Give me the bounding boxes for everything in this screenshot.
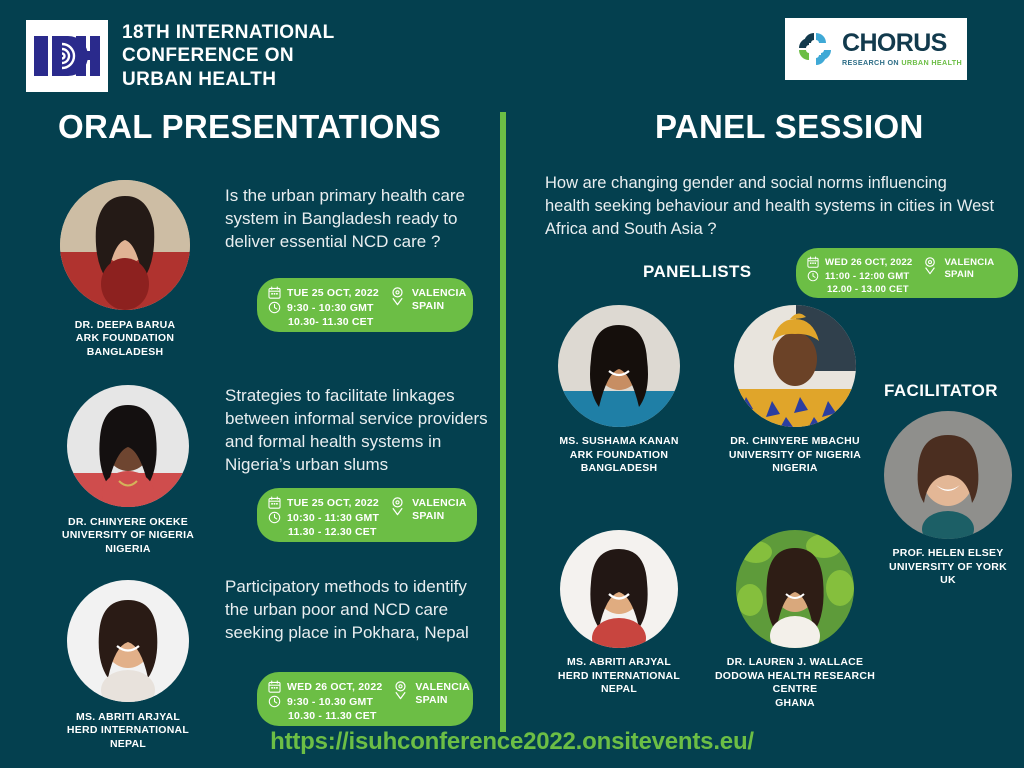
- badge-date-time-group: WED 26 OCT, 2022 11:00 - 12:00 GMT 12.00…: [807, 256, 912, 295]
- badge-time-cet: 11.30 - 12.30 CET: [268, 526, 379, 538]
- badge-date-row: WED 26 OCT, 2022: [807, 256, 912, 268]
- badge-country: SPAIN: [944, 269, 994, 281]
- panel-session-description: How are changing gender and social norms…: [545, 172, 995, 240]
- badge-location: VALENCIA SPAIN: [412, 497, 467, 523]
- badge-time-gmt: 9:30 - 10.30 GMT: [287, 696, 373, 708]
- chorus-wordmark: CHORUS: [842, 31, 962, 56]
- panellist-country: NEPAL: [524, 683, 714, 697]
- panellist-name: DR. CHINYERE MBACHU: [700, 435, 890, 449]
- badge-time-row: 10:30 - 11:30 GMT: [268, 511, 379, 524]
- badge-location-group: VALENCIA SPAIN: [389, 286, 467, 313]
- badge-date: WED 26 OCT, 2022: [287, 681, 382, 693]
- avatar: [736, 530, 854, 648]
- badge-time-cet: 12.00 - 13.00 CET: [807, 284, 912, 295]
- icuh-title-line-2: CONFERENCE ON: [122, 44, 335, 67]
- calendar-icon: [268, 286, 281, 299]
- talk-title: Strategies to facilitate linkages betwee…: [225, 384, 495, 476]
- icuh-title: 18TH INTERNATIONAL CONFERENCE ON URBAN H…: [122, 21, 335, 91]
- talk-title: Is the urban primary health care system …: [225, 184, 495, 253]
- badge-location: VALENCIA SPAIN: [944, 257, 994, 280]
- speaker-org: UNIVERSITY OF NIGERIA: [48, 529, 208, 542]
- badge-location: VALENCIA SPAIN: [415, 681, 470, 707]
- badge-city: VALENCIA: [412, 287, 467, 300]
- avatar: [734, 305, 856, 427]
- badge-time-gmt: 9:30 - 10:30 GMT: [287, 302, 374, 314]
- badge-country: SPAIN: [412, 300, 467, 313]
- speaker-name: MS. ABRITI ARJYAL: [48, 711, 208, 724]
- avatar-photo: [734, 305, 856, 427]
- speaker-name: DR. DEEPA BARUA: [45, 319, 205, 332]
- location-pin-icon: [389, 497, 406, 516]
- speaker-country: BANGLADESH: [45, 346, 205, 359]
- badge-time-row: 9:30 - 10.30 GMT: [268, 695, 382, 708]
- badge-date: TUE 25 OCT, 2022: [287, 287, 379, 299]
- chorus-logo-block: CHORUS RESEARCH ON URBAN HEALTH: [785, 18, 967, 80]
- speaker-name-block: DR. CHINYERE OKEKE UNIVERSITY OF NIGERIA…: [48, 516, 208, 556]
- panel-info-badge: WED 26 OCT, 2022 11:00 - 12:00 GMT 12.00…: [796, 248, 1018, 298]
- avatar-photo: [67, 385, 189, 507]
- chorus-tagline: RESEARCH ON URBAN HEALTH: [842, 58, 962, 67]
- icuh-title-line-1: 18TH INTERNATIONAL: [122, 21, 335, 44]
- avatar-photo: [560, 530, 678, 648]
- badge-city: VALENCIA: [415, 681, 470, 694]
- panellist-org: HERD INTERNATIONAL: [524, 670, 714, 684]
- badge-time-cet: 10.30- 11.30 CET: [268, 316, 379, 328]
- badge-time-gmt: 11:00 - 12:00 GMT: [825, 271, 909, 282]
- panellist-org: DODOWA HEALTH RESEARCH CENTRE: [700, 670, 890, 697]
- panellist-name: MS. ABRITI ARJYAL: [524, 656, 714, 670]
- avatar-photo: [60, 180, 190, 310]
- clock-icon: [807, 270, 819, 282]
- speaker-name-block: DR. DEEPA BARUA ARK FOUNDATION BANGLADES…: [45, 319, 205, 359]
- speaker-card: DR. CHINYERE OKEKE UNIVERSITY OF NIGERIA…: [48, 385, 208, 556]
- talk-title: Participatory methods to identify the ur…: [225, 575, 495, 644]
- avatar: [67, 385, 189, 507]
- session-info-badge: TUE 25 OCT, 2022 9:30 - 10:30 GMT 10.30-…: [257, 278, 473, 332]
- badge-date-row: TUE 25 OCT, 2022: [268, 496, 379, 509]
- badge-location-group: VALENCIA SPAIN: [392, 680, 470, 707]
- chorus-pinwheel-icon: [795, 29, 835, 69]
- panellist-card: MS. SUSHAMA KANAN ARK FOUNDATION BANGLAD…: [524, 305, 714, 476]
- location-pin-icon: [392, 681, 409, 700]
- facilitator-card: PROF. HELEN ELSEY UNIVERSITY OF YORK UK: [878, 411, 1018, 588]
- oral-presentations-heading: ORAL PRESENTATIONS: [58, 108, 441, 146]
- avatar: [60, 180, 190, 310]
- badge-location-group: VALENCIA SPAIN: [922, 256, 994, 280]
- clock-icon: [268, 301, 281, 314]
- avatar: [558, 305, 680, 427]
- badge-time-gmt: 10:30 - 11:30 GMT: [287, 512, 379, 524]
- icuh-logo-icon: [26, 20, 108, 92]
- badge-time-row: 11:00 - 12:00 GMT: [807, 270, 912, 282]
- panellist-name-block: DR. CHINYERE MBACHU UNIVERSITY OF NIGERI…: [700, 435, 890, 476]
- panellist-card: DR. LAUREN J. WALLACE DODOWA HEALTH RESE…: [700, 530, 890, 711]
- badge-country: SPAIN: [412, 510, 467, 523]
- avatar: [884, 411, 1012, 539]
- panellist-name-block: MS. SUSHAMA KANAN ARK FOUNDATION BANGLAD…: [524, 435, 714, 476]
- badge-city: VALENCIA: [412, 497, 467, 510]
- clock-icon: [268, 511, 281, 524]
- facilitator-country: UK: [878, 574, 1018, 588]
- panel-session-heading: PANEL SESSION: [655, 108, 924, 146]
- speaker-card: MS. ABRITI ARJYAL HERD INTERNATIONAL NEP…: [48, 580, 208, 751]
- calendar-icon: [807, 256, 819, 268]
- panellists-heading: PANELLISTS: [643, 262, 752, 282]
- badge-city: VALENCIA: [944, 257, 994, 269]
- badge-time-cet: 10.30 - 11.30 CET: [268, 710, 382, 722]
- panellist-country: NIGERIA: [700, 462, 890, 476]
- panellist-name-block: DR. LAUREN J. WALLACE DODOWA HEALTH RESE…: [700, 656, 890, 711]
- location-pin-icon: [389, 287, 406, 306]
- panellist-name: MS. SUSHAMA KANAN: [524, 435, 714, 449]
- calendar-icon: [268, 496, 281, 509]
- avatar: [560, 530, 678, 648]
- badge-date-time-group: TUE 25 OCT, 2022 9:30 - 10:30 GMT 10.30-…: [268, 286, 379, 328]
- badge-location-group: VALENCIA SPAIN: [389, 496, 467, 523]
- avatar-photo: [884, 411, 1012, 539]
- column-divider: [500, 112, 506, 732]
- panellist-org: UNIVERSITY OF NIGERIA: [700, 449, 890, 463]
- facilitator-name: PROF. HELEN ELSEY: [878, 547, 1018, 561]
- facilitator-name-block: PROF. HELEN ELSEY UNIVERSITY OF YORK UK: [878, 547, 1018, 588]
- location-pin-icon: [922, 257, 938, 275]
- session-info-badge: TUE 25 OCT, 2022 10:30 - 11:30 GMT 11.30…: [257, 488, 477, 542]
- panellist-name: DR. LAUREN J. WALLACE: [700, 656, 890, 670]
- icuh-logo-block: 18TH INTERNATIONAL CONFERENCE ON URBAN H…: [26, 20, 335, 92]
- panellist-card: DR. CHINYERE MBACHU UNIVERSITY OF NIGERI…: [700, 305, 890, 476]
- panellist-name-block: MS. ABRITI ARJYAL HERD INTERNATIONAL NEP…: [524, 656, 714, 697]
- badge-location: VALENCIA SPAIN: [412, 287, 467, 313]
- badge-date: WED 26 OCT, 2022: [825, 257, 912, 268]
- speaker-country: NIGERIA: [48, 543, 208, 556]
- conference-url-link[interactable]: https://isuhconference2022.onsitevents.e…: [0, 728, 1024, 756]
- chorus-tagline-part-b: URBAN HEALTH: [901, 58, 962, 67]
- icuh-title-line-3: URBAN HEALTH: [122, 68, 335, 91]
- avatar-photo: [736, 530, 854, 648]
- badge-date-row: WED 26 OCT, 2022: [268, 680, 382, 693]
- avatar-photo: [558, 305, 680, 427]
- speaker-card: DR. DEEPA BARUA ARK FOUNDATION BANGLADES…: [45, 180, 205, 359]
- panellist-org: ARK FOUNDATION: [524, 449, 714, 463]
- badge-country: SPAIN: [415, 694, 470, 707]
- chorus-tagline-part-a: RESEARCH ON: [842, 58, 901, 67]
- speaker-org: ARK FOUNDATION: [45, 332, 205, 345]
- avatar-photo: [67, 580, 189, 702]
- avatar: [67, 580, 189, 702]
- badge-date-row: TUE 25 OCT, 2022: [268, 286, 379, 299]
- badge-date: TUE 25 OCT, 2022: [287, 497, 379, 509]
- panellist-country: GHANA: [700, 697, 890, 711]
- facilitator-org: UNIVERSITY OF YORK: [878, 561, 1018, 575]
- badge-date-time-group: TUE 25 OCT, 2022 10:30 - 11:30 GMT 11.30…: [268, 496, 379, 538]
- panellist-card: MS. ABRITI ARJYAL HERD INTERNATIONAL NEP…: [524, 530, 714, 697]
- clock-icon: [268, 695, 281, 708]
- facilitator-heading: FACILITATOR: [884, 381, 998, 401]
- poster-canvas: 18TH INTERNATIONAL CONFERENCE ON URBAN H…: [0, 0, 1024, 768]
- badge-date-time-group: WED 26 OCT, 2022 9:30 - 10.30 GMT 10.30 …: [268, 680, 382, 722]
- session-info-badge: WED 26 OCT, 2022 9:30 - 10.30 GMT 10.30 …: [257, 672, 473, 726]
- calendar-icon: [268, 680, 281, 693]
- badge-time-row: 9:30 - 10:30 GMT: [268, 301, 379, 314]
- speaker-name: DR. CHINYERE OKEKE: [48, 516, 208, 529]
- panellist-country: BANGLADESH: [524, 462, 714, 476]
